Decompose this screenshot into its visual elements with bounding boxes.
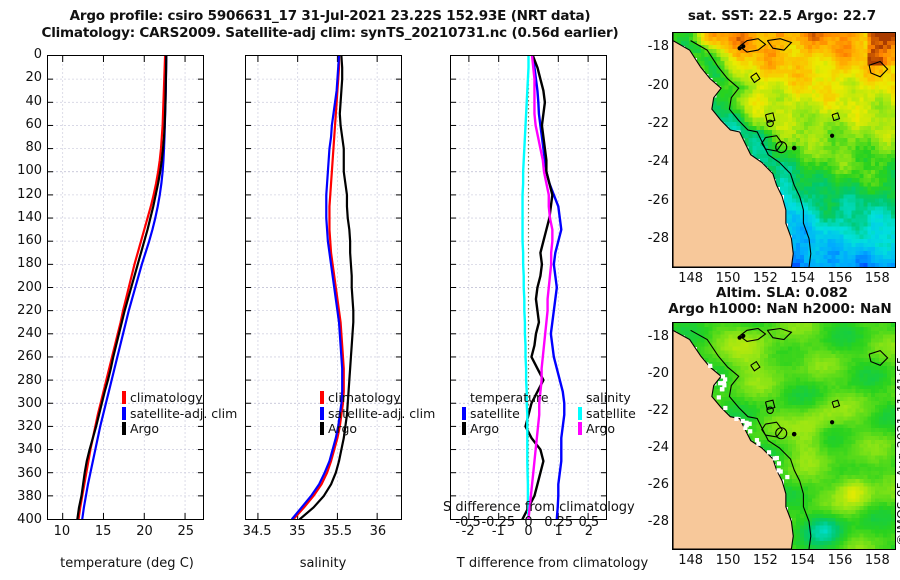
depth-tick-label: 300 (0, 396, 42, 411)
depth-tick-label: 0 (0, 47, 42, 62)
depth-tick-label: 80 (0, 140, 42, 155)
difference-legend-salinity: salinitysatelliteArgo (578, 390, 636, 437)
map-latitude-tick-label: -22 (637, 116, 669, 131)
map-latitude-tick-label: -22 (637, 403, 669, 418)
legend-label: satellite (586, 406, 636, 422)
salinity-profile-panel (245, 55, 402, 520)
legend-entry: Argo (578, 421, 636, 437)
depth-tick-label: 100 (0, 163, 42, 178)
legend-label: Argo (328, 421, 357, 437)
depth-tick-label: 40 (0, 94, 42, 109)
figure-title-line1: Argo profile: csiro 5906631_17 31-Jul-20… (0, 8, 660, 25)
depth-tick-label: 200 (0, 280, 42, 295)
map-latitude-tick-label: -28 (637, 514, 669, 529)
legend-entry: satellite-adj. clim (320, 406, 435, 422)
depth-tick-label: 340 (0, 442, 42, 457)
map-latitude-tick-label: -26 (637, 477, 669, 492)
legend-color-swatch (462, 407, 466, 420)
figure-title-line2: Climatology: CARS2009. Satellite-adj cli… (0, 25, 660, 42)
temperature-profile-plot (48, 56, 203, 519)
depth-tick-label: 180 (0, 256, 42, 271)
map-latitude-tick-label: -20 (637, 78, 669, 93)
legend-entry: satellite (462, 406, 549, 422)
legend-color-swatch (462, 422, 466, 435)
legend-color-swatch (122, 422, 126, 435)
depth-tick-label: 120 (0, 187, 42, 202)
sla-map (672, 322, 896, 550)
legend-label: satellite-adj. clim (130, 406, 237, 422)
map-latitude-tick-label: -24 (637, 440, 669, 455)
legend-entry: satellite-adj. clim (122, 406, 237, 422)
depth-tick-label: 160 (0, 233, 42, 248)
depth-tick-label: 280 (0, 373, 42, 388)
legend-entry: Argo (462, 421, 549, 437)
figure-title: Argo profile: csiro 5906631_17 31-Jul-20… (0, 8, 660, 42)
map-latitude-tick-label: -20 (637, 366, 669, 381)
salinity-difference-axis-label: S difference from climatology (443, 500, 658, 515)
legend-label: Argo (130, 421, 159, 437)
depth-tick-label: 360 (0, 466, 42, 481)
sst-map (672, 32, 896, 268)
legend-color-swatch (320, 391, 324, 404)
sst-map-title: sat. SST: 22.5 Argo: 22.7 (668, 8, 896, 24)
map-latitude-tick-label: -26 (637, 193, 669, 208)
sla-map-image (673, 323, 895, 549)
salinity-profile-plot (246, 56, 401, 519)
legend-entry: climatology (122, 390, 237, 406)
sla-map-title-line2: Argo h1000: NaN h2000: NaN (660, 301, 900, 317)
depth-tick-label: 260 (0, 349, 42, 364)
map-latitude-tick-label: -18 (637, 329, 669, 344)
sla-map-title-line1: Altim. SLA: 0.082 (668, 285, 896, 301)
salinity-axis-label: salinity (243, 556, 403, 571)
legend-color-swatch (122, 391, 126, 404)
map-latitude-tick-label: -28 (637, 231, 669, 246)
legend-label: satellite (470, 406, 520, 422)
legend-color-swatch (578, 407, 582, 420)
sst-map-image (673, 33, 895, 267)
legend-entry: satellite (578, 406, 636, 422)
depth-tick-label: 240 (0, 326, 42, 341)
map-longitude-tick-label: 158 (852, 271, 900, 286)
depth-tick-label: 60 (0, 117, 42, 132)
legend-color-swatch (122, 407, 126, 420)
legend-label: climatology (328, 390, 401, 406)
salinity-legend: climatologysatellite-adj. climArgo (320, 390, 435, 437)
temperature-difference-tick-label: 2 (559, 524, 619, 539)
difference-legend-temperature: temperaturesatelliteArgo (462, 390, 549, 437)
legend-color-swatch (320, 407, 324, 420)
legend-entry: Argo (122, 421, 237, 437)
depth-tick-label: 380 (0, 489, 42, 504)
legend-label: Argo (470, 421, 499, 437)
depth-tick-label: 320 (0, 419, 42, 434)
map-latitude-tick-label: -18 (637, 39, 669, 54)
map-longitude-tick-label: 158 (852, 553, 900, 568)
temperature-legend: climatologysatellite-adj. climArgo (122, 390, 237, 437)
legend-header: temperature (462, 390, 549, 406)
legend-color-swatch (320, 422, 324, 435)
temperature-difference-axis-label: T difference from climatology (440, 556, 665, 571)
legend-label: climatology (130, 390, 203, 406)
legend-entry: climatology (320, 390, 435, 406)
temperature-axis-label: temperature (deg C) (37, 556, 217, 571)
depth-tick-label: 220 (0, 303, 42, 318)
legend-color-swatch (578, 422, 582, 435)
depth-tick-label: 20 (0, 70, 42, 85)
legend-entry: Argo (320, 421, 435, 437)
argo-profile-figure: Argo profile: csiro 5906631_17 31-Jul-20… (0, 0, 900, 580)
temperature-profile-panel (47, 55, 204, 520)
salinity-tick-label: 36 (348, 524, 408, 539)
copyright-text: ©IMOS 05-Aug-2021 11:41:55 (894, 356, 900, 546)
temperature-tick-label: 25 (156, 524, 216, 539)
difference-profile-panel (450, 55, 607, 520)
legend-header: salinity (578, 390, 636, 406)
legend-label: Argo (586, 421, 615, 437)
depth-tick-label: 140 (0, 210, 42, 225)
difference-profile-plot (451, 56, 606, 519)
legend-label: satellite-adj. clim (328, 406, 435, 422)
map-latitude-tick-label: -24 (637, 154, 669, 169)
